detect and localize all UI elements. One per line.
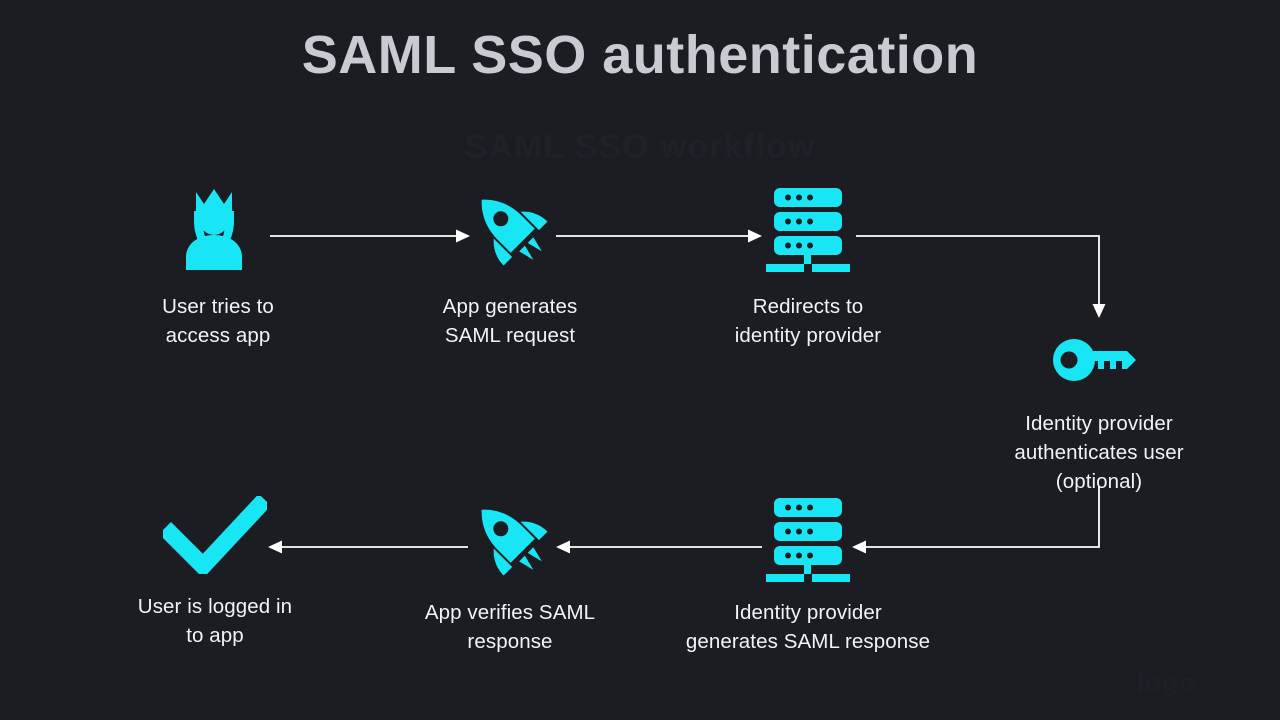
server-icon: [658, 492, 958, 584]
step-label-app-verifies: App verifies SAML response: [380, 598, 640, 656]
step-node-redirect: Redirects to identity provider: [678, 178, 938, 350]
step-label-key: Identity provider authenticates user (op…: [949, 409, 1249, 496]
step-label-idp-generates: Identity provider generates SAML respons…: [658, 598, 958, 656]
rocket-icon: [380, 178, 640, 278]
step-label-logged-in: User is logged in to app: [85, 592, 345, 650]
step-label-app-request: App generates SAML request: [380, 292, 640, 350]
watermark-top: SAML SSO workflow: [0, 128, 1280, 167]
page-title: SAML SSO authentication: [0, 26, 1280, 85]
rocket-icon: [380, 492, 640, 584]
step-node-idp-generates: Identity provider generates SAML respons…: [658, 492, 958, 656]
checkmark-icon: [85, 492, 345, 578]
server-icon: [678, 178, 938, 278]
slide-canvas: SAML SSO authentication SAML SSO workflo…: [0, 0, 1280, 720]
step-node-app-request: App generates SAML request: [380, 178, 640, 350]
step-node-logged-in: User is logged in to app: [85, 492, 345, 650]
step-label-redirect: Redirects to identity provider: [678, 292, 938, 350]
step-node-key: Identity provider authenticates user (op…: [949, 325, 1249, 496]
crowned-user-icon: [88, 178, 348, 278]
watermark-corner-logo: logo: [1137, 667, 1196, 698]
step-node-user: User tries to access app: [88, 178, 348, 350]
step-node-app-verifies: App verifies SAML response: [380, 492, 640, 656]
step-label-user: User tries to access app: [88, 292, 348, 350]
key-icon: [949, 325, 1249, 395]
